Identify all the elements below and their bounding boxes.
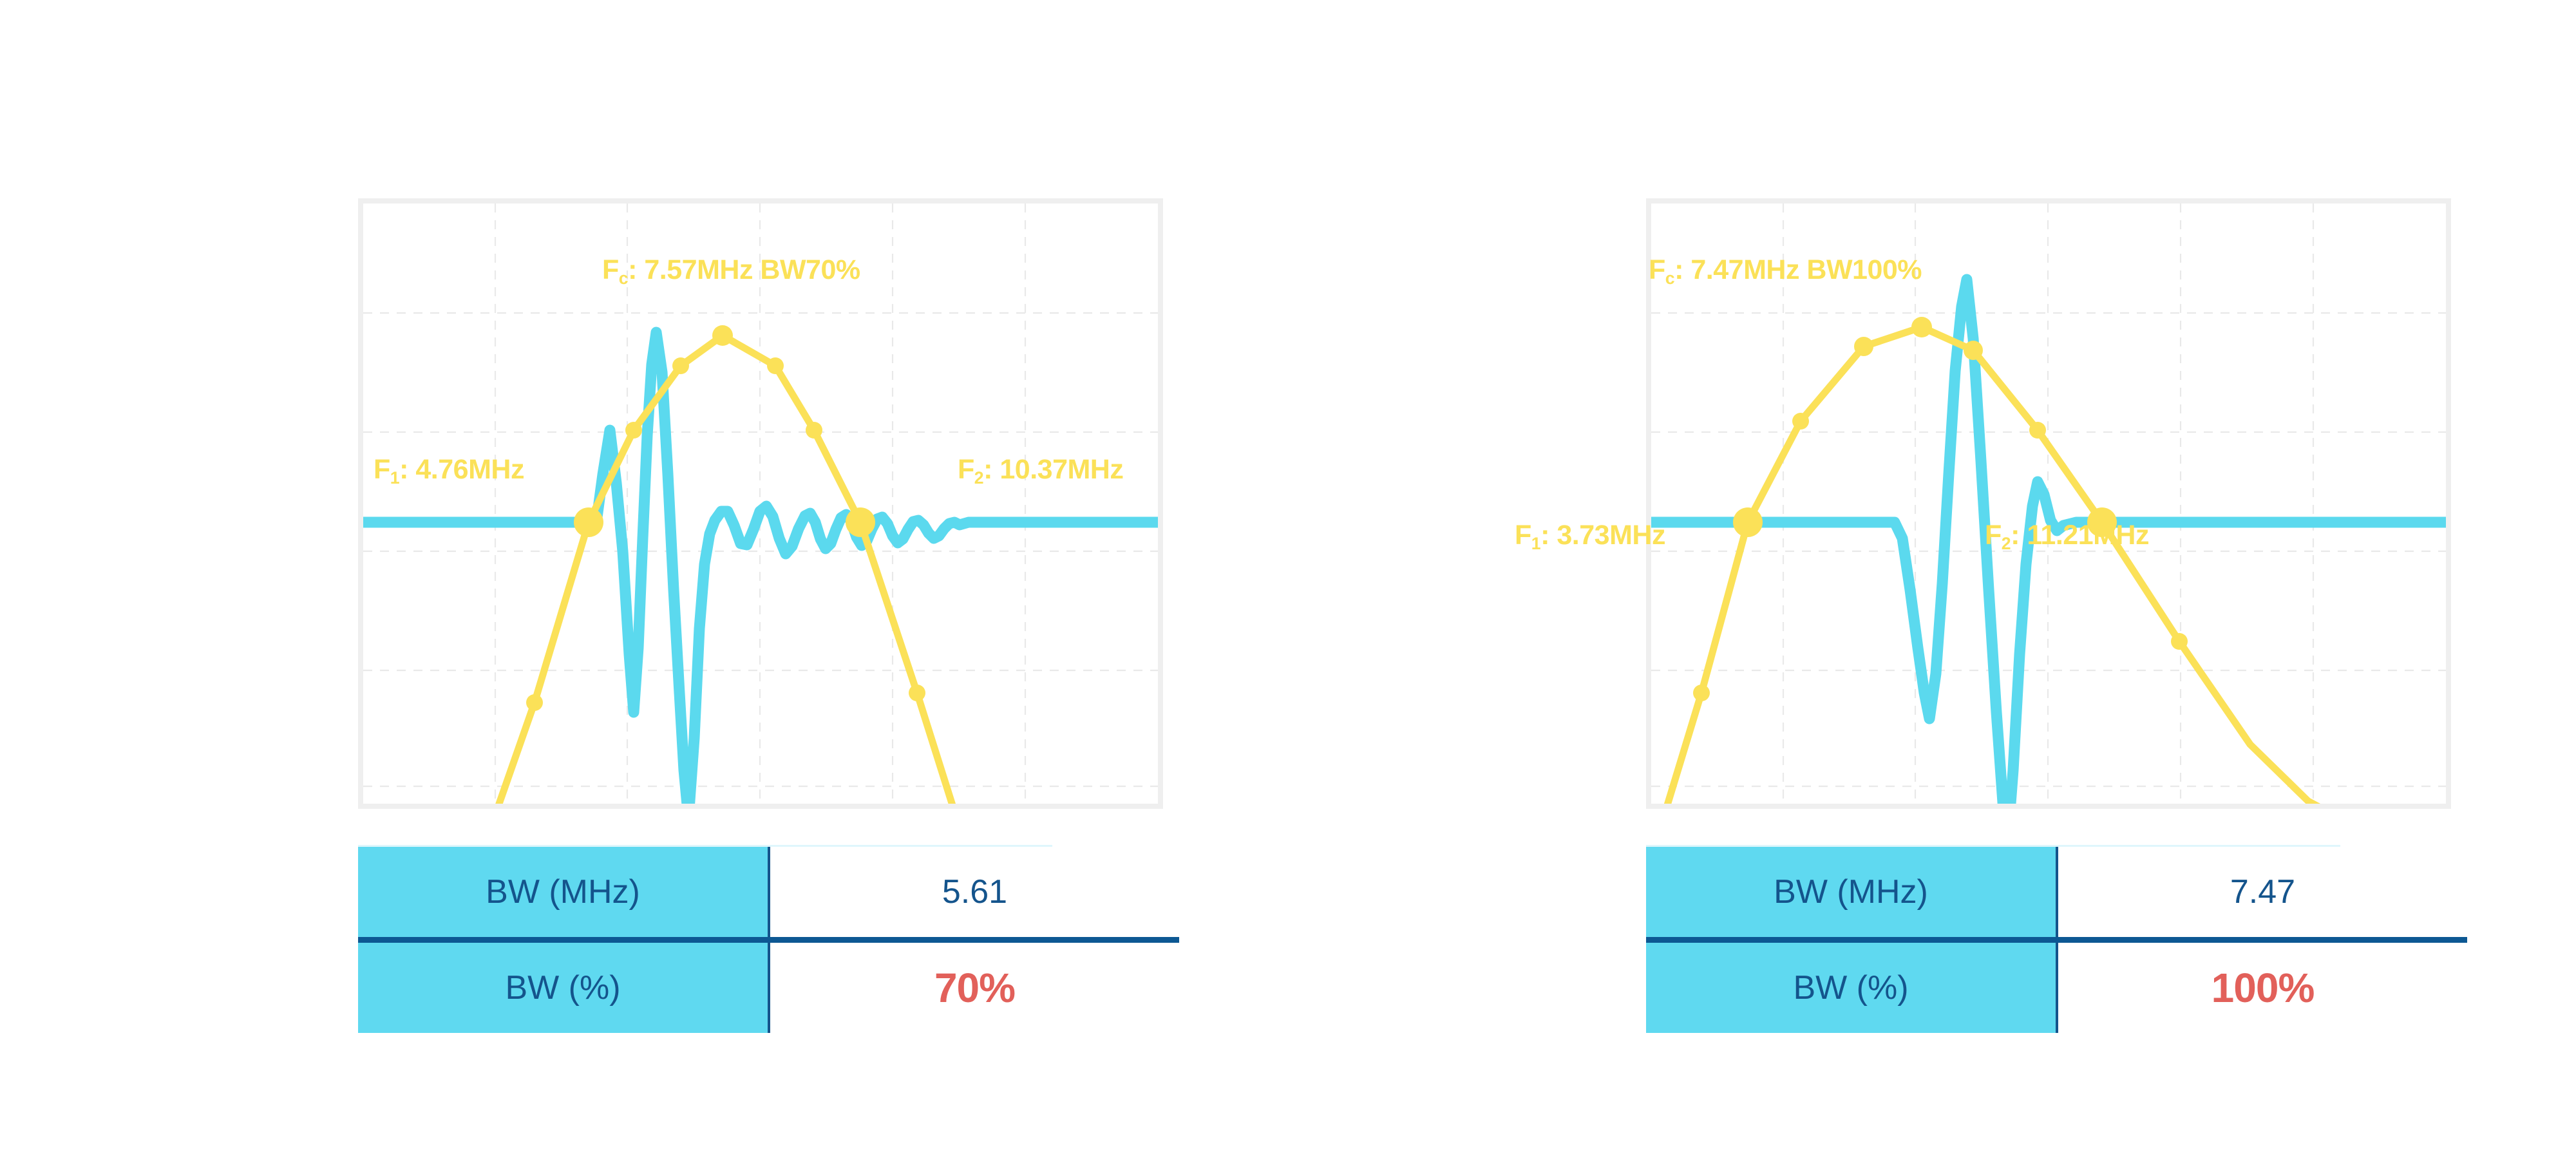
- bandwidth-panel-70: Fc: 7.57MHz BW70% F1: 4.76MHz F2: 10.37M…: [0, 0, 1288, 1154]
- gridlines-70: [363, 203, 1158, 804]
- upper-cutoff-label-100: F2: 11.21MHz: [1985, 522, 2149, 549]
- row-header-cell: BW (MHz): [358, 847, 770, 937]
- spectrum-markers-100: [1693, 317, 2373, 804]
- center-frequency-label-70: Fc: 7.57MHz BW70%: [602, 256, 860, 284]
- f1-prefix: F: [1515, 520, 1531, 551]
- table-row: BW (MHz) 5.61: [358, 847, 1179, 937]
- spectrum-svg-70: [363, 203, 1158, 804]
- fc-prefix: F: [602, 254, 619, 285]
- row-header-label: BW (%): [1793, 969, 1908, 1007]
- row-value-text: 5.61: [942, 873, 1007, 911]
- f1-subscript: 1: [1531, 534, 1540, 553]
- spectrum-svg-100: [1651, 203, 2446, 804]
- spectrum-plot-70: [358, 198, 1163, 809]
- row-header-label: BW (MHz): [486, 873, 640, 911]
- fc-subscript: c: [1665, 269, 1674, 288]
- fc-prefix: F: [1649, 254, 1665, 285]
- row-value-cell: 100%: [2058, 943, 2467, 1033]
- lower-cutoff-label-70: F1: 4.76MHz: [374, 456, 524, 484]
- row-value-cell: 70%: [770, 943, 1179, 1033]
- fc-text: : 7.57MHz BW70%: [628, 254, 860, 285]
- row-header-label: BW (%): [505, 969, 620, 1007]
- row-header-cell: BW (MHz): [1646, 847, 2058, 937]
- row-value-text: 7.47: [2230, 873, 2295, 911]
- f1-text: : 3.73MHz: [1540, 520, 1665, 551]
- bandwidth-table-70: BW (MHz) 5.61 BW (%) 70%: [358, 845, 1179, 1033]
- bandwidth-table-100: BW (MHz) 7.47 BW (%) 100%: [1646, 845, 2467, 1033]
- f2-prefix: F: [1985, 520, 2002, 551]
- f2-prefix: F: [958, 454, 974, 485]
- row-header-cell: BW (%): [358, 943, 770, 1033]
- row-value-cell: 5.61: [770, 847, 1179, 937]
- spectrum-plot-100: [1646, 198, 2451, 809]
- f1-prefix: F: [374, 454, 390, 485]
- spectrum-curve-70: [489, 336, 962, 804]
- fc-text: : 7.47MHz BW100%: [1674, 254, 1922, 285]
- f2-subscript: 2: [2002, 534, 2011, 553]
- f1-subscript: 1: [390, 468, 399, 487]
- upper-cutoff-label-70: F2: 10.37MHz: [958, 456, 1123, 484]
- lower-cutoff-label-100: F1: 3.73MHz: [1515, 522, 1665, 549]
- pulse-waveform-70: [363, 332, 1158, 804]
- center-frequency-label-100: Fc: 7.47MHz BW100%: [1649, 256, 1922, 284]
- row-header-label: BW (MHz): [1774, 873, 1928, 911]
- row-value-text: 100%: [2211, 964, 2315, 1012]
- table-row: BW (%) 70%: [358, 943, 1179, 1033]
- f2-text: : 10.37MHz: [983, 454, 1123, 485]
- plot-inner-70: [363, 203, 1158, 804]
- f2-text: : 11.21MHz: [2011, 520, 2149, 551]
- bandwidth-panel-100: Fc: 7.47MHz BW100% F1: 3.73MHz F2: 11.21…: [1288, 0, 2576, 1154]
- table-row-divider: [1646, 937, 2467, 943]
- row-value-cell: 7.47: [2058, 847, 2467, 937]
- f1-text: : 4.76MHz: [399, 454, 524, 485]
- row-value-text: 70%: [934, 964, 1015, 1012]
- table-row: BW (MHz) 7.47: [1646, 847, 2467, 937]
- table-row-divider: [358, 937, 1179, 943]
- fc-subscript: c: [619, 269, 628, 288]
- row-header-cell: BW (%): [1646, 943, 2058, 1033]
- plot-inner-100: [1651, 203, 2446, 804]
- f2-subscript: 2: [974, 468, 983, 487]
- table-row: BW (%) 100%: [1646, 943, 2467, 1033]
